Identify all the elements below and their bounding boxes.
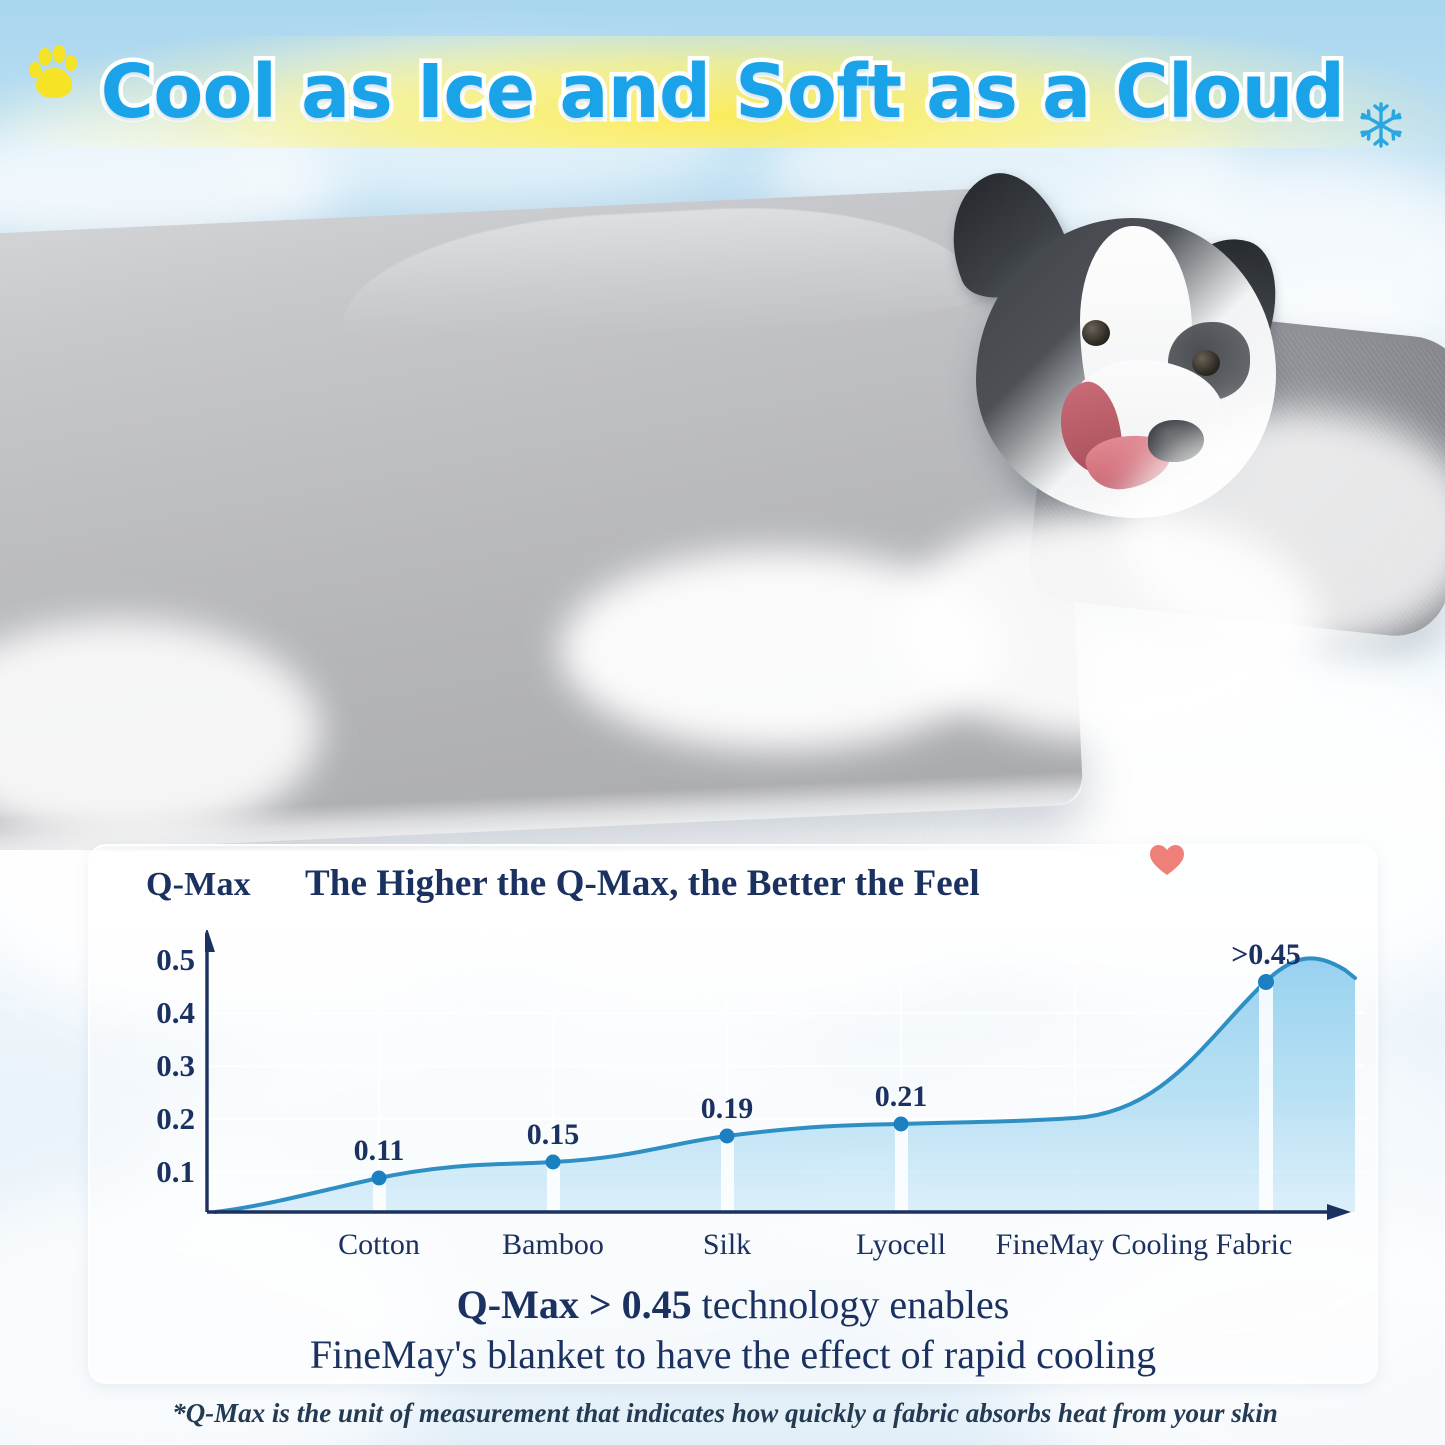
snowflake-icon (1356, 100, 1406, 150)
footnote: *Q-Max is the unit of measurement that i… (60, 1398, 1390, 1429)
chart-caption: Q-Max > 0.45 technology enables FineMay'… (88, 1280, 1378, 1381)
heart-quilt-pattern (342, 582, 487, 717)
point-label-finemay: >0.45 (1231, 938, 1301, 972)
y-tick-0.2: 0.2 (156, 1101, 195, 1137)
point-label-silk: 0.19 (701, 1092, 754, 1126)
y-tick-0.1: 0.1 (156, 1154, 195, 1190)
chart-area-fill (215, 958, 1355, 1212)
x-category-lyocell: Lyocell (856, 1228, 946, 1262)
y-tick-0.3: 0.3 (156, 1048, 195, 1084)
y-tick-0.4: 0.4 (156, 995, 195, 1031)
dog-eye-right (1192, 350, 1220, 376)
x-category-cotton: Cotton (338, 1228, 420, 1262)
y-tick-0.5: 0.5 (156, 942, 195, 978)
page-title: Cool as Ice and Soft as a Cloud (14, 42, 1430, 142)
dog-eye-left (1082, 320, 1110, 346)
x-category-finemay: FineMay Cooling Fabric (996, 1228, 1293, 1262)
x-category-bamboo: Bamboo (502, 1228, 604, 1262)
chart-y-axis-title: Q-Max (146, 866, 251, 904)
paw-print-icon (28, 46, 80, 102)
point-label-bamboo: 0.15 (527, 1118, 580, 1152)
qmax-chart-plot: 0.1 0.2 0.3 0.4 0.5 0.11 0.15 0.19 0.21 … (205, 930, 1365, 1220)
chart-svg (205, 930, 1365, 1220)
heart-quilt-pattern (781, 370, 930, 509)
point-label-cotton: 0.11 (354, 1134, 405, 1168)
chart-title: The Higher the Q-Max, the Better the Fee… (305, 862, 1165, 905)
heart-icon (1148, 842, 1186, 876)
caption-highlight: Q-Max > 0.45 (457, 1282, 692, 1327)
infographic-canvas: Cool as Ice and Soft as a Cloud Q-Max Th… (0, 0, 1445, 1445)
product-photo (0, 150, 1445, 850)
caption-line-1-rest: technology enables (692, 1282, 1010, 1327)
caption-line-1: Q-Max > 0.45 technology enables (88, 1280, 1378, 1330)
point-label-lyocell: 0.21 (875, 1080, 928, 1114)
caption-line-2: FineMay's blanket to have the effect of … (88, 1330, 1378, 1380)
x-category-silk: Silk (703, 1228, 751, 1262)
